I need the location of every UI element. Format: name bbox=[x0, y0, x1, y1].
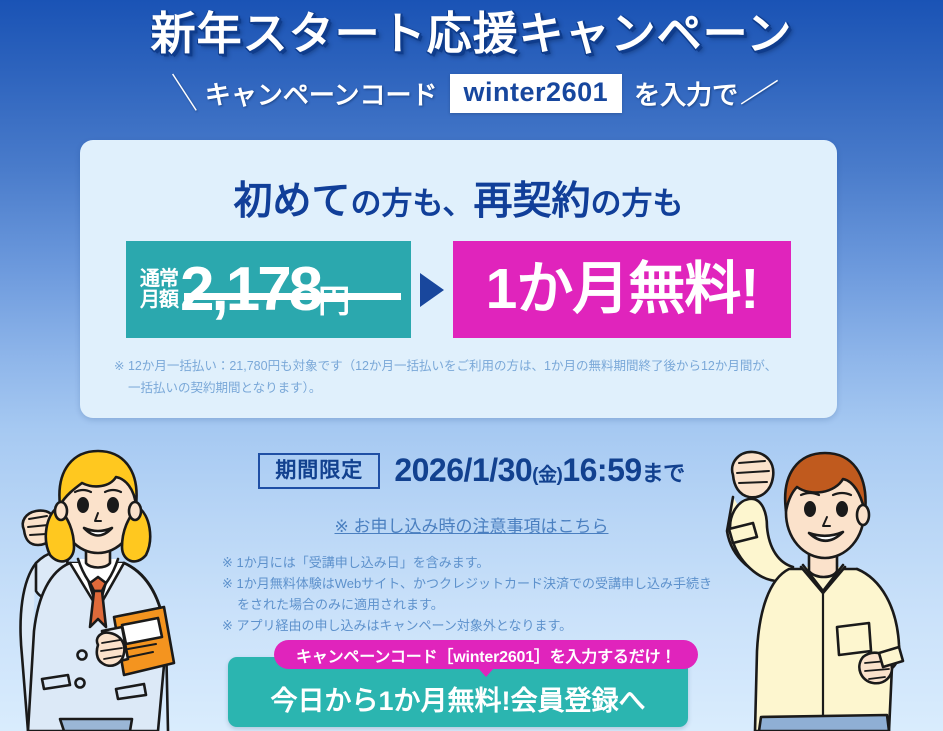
note-item: ※ 1か月には「受講申し込み日」を含みます。 bbox=[222, 552, 712, 573]
deadline-day-of-week: (金) bbox=[532, 465, 562, 486]
cta-code-badge[interactable]: キャンペーンコード［winter2601］を入力するだけ！ bbox=[274, 640, 698, 669]
regular-price-amount: 2,178 bbox=[180, 259, 320, 321]
arrow-container bbox=[411, 241, 453, 338]
panel-disclaimer-line1: ※ 12か月一括払い：21,780円も対象です（12か月一括払いをご利用の方は、… bbox=[114, 359, 777, 373]
deadline-date: 2026/1/30 bbox=[394, 452, 532, 488]
slash-left-decoration: ＼ bbox=[164, 74, 204, 114]
banner-header: 新年スタート応援キャンペーン ＼ キャンペーンコード winter2601 を入… bbox=[0, 0, 943, 113]
campaign-code-chip: winter2601 bbox=[450, 74, 623, 113]
regular-price-block: 通常 月額 2,178 円 bbox=[126, 241, 411, 338]
deadline-suffix: まで bbox=[642, 461, 685, 486]
deadline-row: 期間限定 2026/1/30(金)16:59まで bbox=[0, 452, 943, 489]
regular-price-label-line1: 通常 bbox=[140, 268, 178, 290]
promo-price-block: 1か月無料! bbox=[453, 241, 791, 338]
strikethrough-line bbox=[184, 293, 401, 300]
regular-price-unit: 円 bbox=[318, 276, 349, 338]
limited-time-badge: 期間限定 bbox=[258, 453, 380, 489]
panel-heading-part2: の方も、 bbox=[350, 186, 473, 221]
page-title: 新年スタート応援キャンペーン bbox=[0, 0, 943, 60]
deadline-time: 16:59 bbox=[562, 452, 641, 488]
slash-right-decoration: ／ bbox=[739, 74, 779, 114]
regular-price-label: 通常 月額 bbox=[140, 269, 178, 311]
campaign-code-prefix: キャンペーンコード bbox=[205, 75, 438, 112]
panel-disclaimer: ※ 12か月一括払い：21,780円も対象です（12か月一括払いをご利用の方は、… bbox=[114, 356, 814, 400]
panel-heading-part3: 再契約 bbox=[474, 180, 591, 223]
notice-link[interactable]: ※ お申し込み時の注意事項はこちら bbox=[335, 517, 609, 536]
cta-code-badge-label: キャンペーンコード［winter2601］を入力するだけ！ bbox=[296, 643, 676, 667]
campaign-code-suffix: を入力で bbox=[634, 75, 738, 112]
price-comparison-row: 通常 月額 2,178 円 1か月無料! bbox=[80, 241, 837, 338]
note-item: ※ アプリ経由の申し込みはキャンペーン対象外となります。 bbox=[222, 615, 712, 636]
note-item: ※ 1か月無料体験はWebサイト、かつクレジットカード決済での受講申し込み手続き bbox=[222, 573, 712, 594]
panel-disclaimer-line2: 一括払いの契約期間となります）。 bbox=[114, 378, 814, 400]
panel-heading: 初めての方も、再契約の方も bbox=[80, 140, 837, 226]
campaign-code-line: ＼ キャンペーンコード winter2601 を入力で ／ bbox=[0, 74, 943, 113]
note-item: をされた場合のみに適用されます。 bbox=[222, 594, 712, 615]
notes-list: ※ 1か月には「受講申し込み日」を含みます。 ※ 1か月無料体験はWebサイト、… bbox=[222, 552, 712, 636]
price-panel: 初めての方も、再契約の方も 通常 月額 2,178 円 1か月無料! ※ 12か… bbox=[80, 140, 837, 418]
arrow-right-icon bbox=[420, 273, 444, 307]
signup-cta-label: 今日から1か月無料!会員登録へ bbox=[270, 667, 645, 718]
notice-link-container: ※ お申し込み時の注意事項はこちら bbox=[0, 512, 943, 537]
campaign-banner: 新年スタート応援キャンペーン ＼ キャンペーンコード winter2601 を入… bbox=[0, 0, 943, 731]
promo-price-text: 1か月無料! bbox=[486, 261, 759, 318]
regular-price-label-line2: 月額 bbox=[140, 289, 178, 311]
panel-heading-part4: の方も bbox=[591, 186, 684, 221]
panel-heading-part1: 初めて bbox=[233, 180, 350, 223]
deadline-text: 2026/1/30(金)16:59まで bbox=[394, 452, 684, 489]
